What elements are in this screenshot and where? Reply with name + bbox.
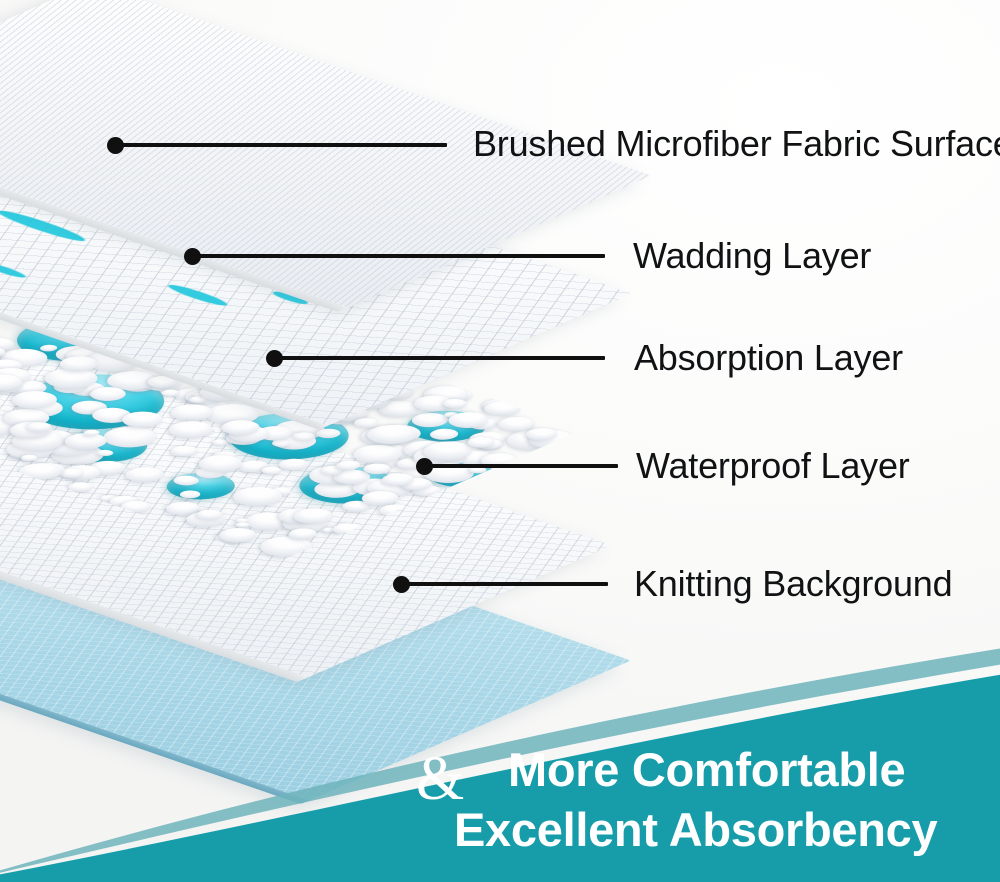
layer-label-wadding: Wadding Layer xyxy=(633,238,871,274)
banner-headline-line-2: Excellent Absorbency xyxy=(454,806,937,854)
leader-line-waterproof xyxy=(431,464,618,468)
banner-headline-line-1: More Comfortable xyxy=(508,746,905,794)
layer-stack-illustration xyxy=(0,0,660,790)
layer-label-knitting: Knitting Background xyxy=(634,566,952,602)
layer-label-waterproof: Waterproof Layer xyxy=(636,448,910,484)
layer-label-absorption: Absorption Layer xyxy=(634,340,903,376)
leader-line-knitting xyxy=(408,582,608,586)
leader-line-wadding xyxy=(199,254,605,258)
infographic-canvas: Brushed Microfiber Fabric SurfaceWadding… xyxy=(0,0,1000,882)
leader-line-microfiber xyxy=(122,143,447,147)
layer-label-microfiber: Brushed Microfiber Fabric Surface xyxy=(473,126,1000,162)
polymer-bead xyxy=(165,444,204,459)
leader-line-absorption xyxy=(281,356,605,360)
banner-ampersand: & xyxy=(416,748,464,811)
